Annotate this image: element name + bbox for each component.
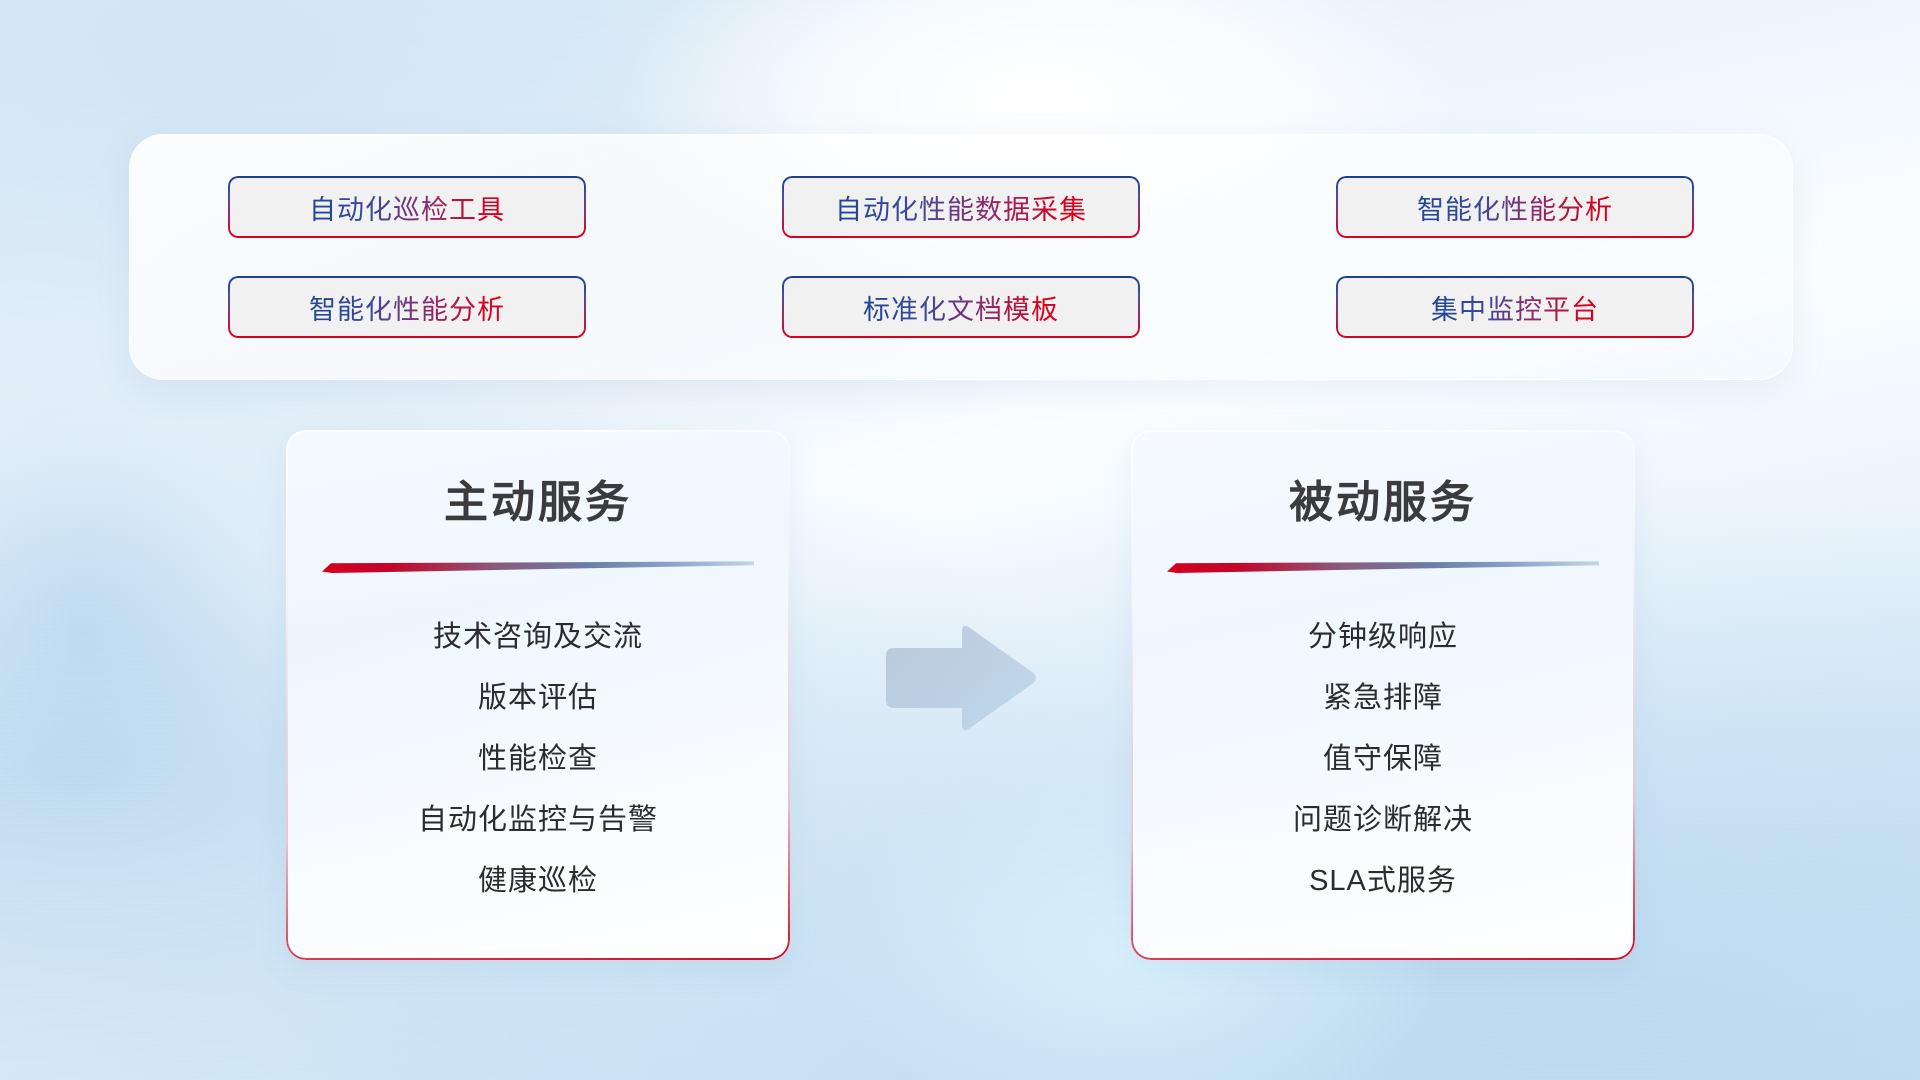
card-passive-service-title: 被动服务 bbox=[1131, 430, 1635, 530]
capability-pill-grid: 自动化巡检工具 自动化性能数据采集 智能化性能分析 智能化性能分析 标准化文档模… bbox=[228, 176, 1694, 338]
card-active-service: 主动服务 技术咨询及交流 版本评估 性能检查 自动化监控与告警 健康巡检 bbox=[286, 430, 790, 960]
list-item: SLA式服务 bbox=[1131, 851, 1635, 912]
list-item: 分钟级响应 bbox=[1131, 607, 1635, 668]
list-item: 问题诊断解决 bbox=[1131, 790, 1635, 851]
list-item: 技术咨询及交流 bbox=[286, 607, 790, 668]
capability-pill-centralized-monitoring-platform[interactable]: 集中监控平台 bbox=[1336, 276, 1694, 338]
capability-pill-label: 标准化文档模板 bbox=[863, 288, 1059, 327]
list-item: 紧急排障 bbox=[1131, 668, 1635, 729]
card-active-service-title: 主动服务 bbox=[286, 430, 790, 530]
card-passive-service: 被动服务 分钟级响应 紧急排障 值守保障 问题诊断解决 SLA式服务 bbox=[1131, 430, 1635, 960]
capability-pill-intelligent-performance-analysis-1[interactable]: 智能化性能分析 bbox=[1336, 176, 1694, 238]
capability-pill-label: 智能化性能分析 bbox=[309, 288, 505, 327]
list-item: 自动化监控与告警 bbox=[286, 790, 790, 851]
capability-pill-intelligent-performance-analysis-2[interactable]: 智能化性能分析 bbox=[228, 276, 586, 338]
capability-panel: 自动化巡检工具 自动化性能数据采集 智能化性能分析 智能化性能分析 标准化文档模… bbox=[129, 134, 1793, 380]
list-item: 健康巡检 bbox=[286, 851, 790, 912]
card-divider-gradient bbox=[1167, 560, 1599, 573]
list-item: 值守保障 bbox=[1131, 729, 1635, 790]
list-item: 版本评估 bbox=[286, 668, 790, 729]
capability-pill-automated-inspection-tool[interactable]: 自动化巡检工具 bbox=[228, 176, 586, 238]
capability-pill-automated-performance-data-collection[interactable]: 自动化性能数据采集 bbox=[782, 176, 1140, 238]
capability-pill-label: 集中监控平台 bbox=[1431, 288, 1599, 327]
card-passive-service-list: 分钟级响应 紧急排障 值守保障 问题诊断解决 SLA式服务 bbox=[1131, 573, 1635, 912]
capability-pill-label: 智能化性能分析 bbox=[1417, 188, 1613, 227]
card-active-service-list: 技术咨询及交流 版本评估 性能检查 自动化监控与告警 健康巡检 bbox=[286, 573, 790, 912]
list-item: 性能检查 bbox=[286, 729, 790, 790]
capability-pill-label: 自动化性能数据采集 bbox=[835, 188, 1087, 227]
card-divider-gradient bbox=[322, 560, 754, 573]
capability-pill-label: 自动化巡检工具 bbox=[309, 188, 505, 227]
arrow-right-icon bbox=[880, 620, 1040, 736]
capability-pill-standardized-document-template[interactable]: 标准化文档模板 bbox=[782, 276, 1140, 338]
